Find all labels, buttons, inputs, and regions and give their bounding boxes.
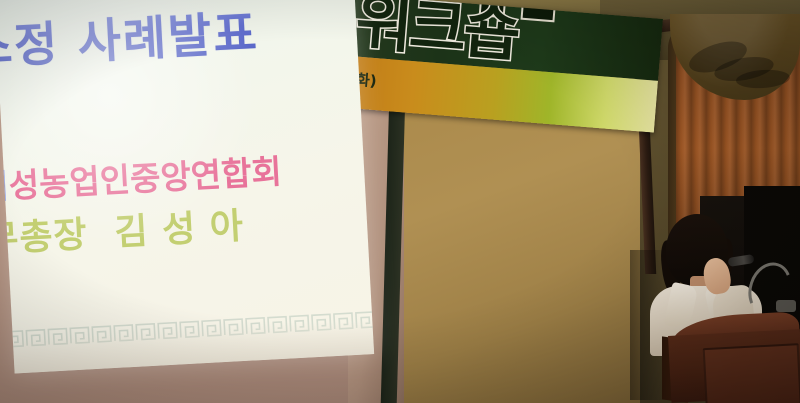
projection-screen: 스정 사례발표 여성농업인중앙연합회 무총장 김 성 아 [0, 0, 374, 373]
podium-body [668, 329, 800, 403]
podium-front-panel [703, 343, 800, 403]
microphone-base [776, 300, 796, 312]
slide-presenter: 무총장 김 성 아 [0, 197, 245, 263]
slide-presenter-role: 무총장 [0, 214, 89, 260]
presentation-photo-scene: 워크숍 (화) 스정 사례발표 여성농업인중앙연합회 무총장 김 성 아 [0, 0, 800, 403]
slide-title: 스정 사례발표 [0, 0, 260, 78]
slide-presenter-name: 김 성 아 [114, 206, 245, 254]
banner-headline: 워크숍 [353, 0, 520, 65]
